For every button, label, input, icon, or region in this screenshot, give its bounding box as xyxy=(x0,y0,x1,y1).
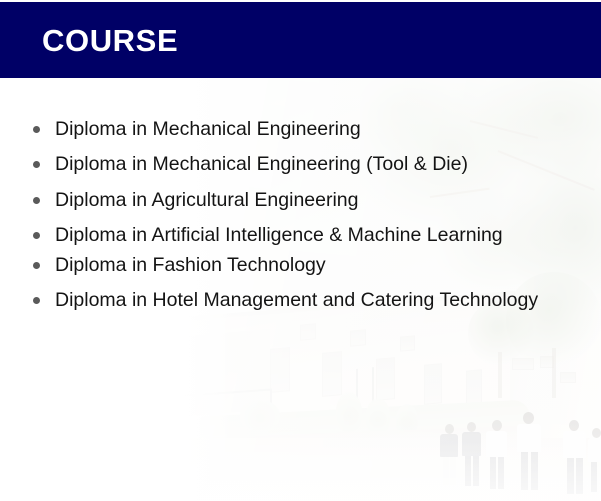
bullet-icon xyxy=(33,161,40,168)
photo-tree-trunk xyxy=(552,348,556,398)
photo-window xyxy=(376,357,395,401)
photo-main-building xyxy=(170,295,510,454)
photo-hedge xyxy=(200,399,530,448)
photo-shrub xyxy=(366,398,390,434)
bullet-icon xyxy=(33,232,40,239)
photo-tree-trunk xyxy=(498,352,502,398)
course-list-item: Diploma in Fashion Technology xyxy=(0,254,601,276)
course-label: Diploma in Mechanical Engineering (Tool … xyxy=(55,153,468,175)
photo-forecourt xyxy=(150,438,601,501)
course-label: Diploma in Agricultural Engineering xyxy=(55,189,359,211)
photo-ladder xyxy=(356,367,374,417)
photo-window xyxy=(350,329,366,346)
photo-window xyxy=(448,340,464,354)
bullet-icon xyxy=(33,126,40,133)
photo-window xyxy=(322,351,342,397)
photo-window xyxy=(512,358,534,370)
course-list-item: Diploma in Agricultural Engineering xyxy=(0,189,601,211)
photo-window xyxy=(466,369,482,406)
photo-building-distant-left xyxy=(430,318,490,438)
photo-window xyxy=(400,335,415,351)
photo-bottom-white-fade xyxy=(0,411,601,501)
photo-veranda xyxy=(160,329,270,419)
course-list-item: Diploma in Artificial Intelligence & Mac… xyxy=(0,224,601,246)
course-list-item: Diploma in Mechanical Engineering (Tool … xyxy=(0,153,601,175)
photo-window xyxy=(424,363,442,405)
photo-shrub xyxy=(396,404,418,436)
photo-shrub xyxy=(336,392,362,432)
course-list: Diploma in Mechanical Engineering Diplom… xyxy=(0,118,601,311)
course-list-item: Diploma in Mechanical Engineering xyxy=(0,118,601,140)
photo-window xyxy=(540,356,554,368)
photo-window xyxy=(560,372,576,383)
course-list-item: Diploma in Hotel Management and Catering… xyxy=(0,289,601,311)
photo-window xyxy=(448,366,464,380)
photo-window xyxy=(300,323,316,340)
photo-kerb xyxy=(180,425,540,453)
bullet-icon xyxy=(33,297,40,304)
photo-shrub xyxy=(240,400,280,430)
bullet-icon xyxy=(33,197,40,204)
course-label: Diploma in Fashion Technology xyxy=(55,254,326,276)
header-banner: COURSE xyxy=(0,2,601,78)
photo-railing xyxy=(172,389,272,424)
course-label: Diploma in Mechanical Engineering xyxy=(55,118,361,140)
photo-window xyxy=(270,347,290,393)
bullet-icon xyxy=(33,262,40,269)
course-label: Diploma in Hotel Management and Catering… xyxy=(55,289,538,311)
photo-building-distant-right xyxy=(470,300,601,460)
page-title: COURSE xyxy=(42,24,178,58)
course-slide: COURSE Diploma in Mechanical Engineering… xyxy=(0,0,601,501)
course-label: Diploma in Artificial Intelligence & Mac… xyxy=(55,224,503,246)
